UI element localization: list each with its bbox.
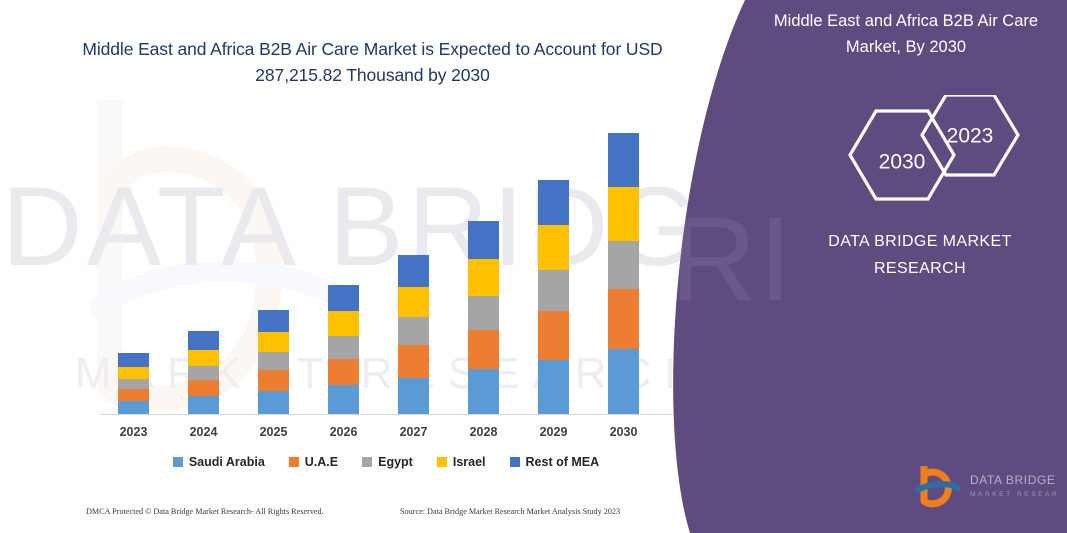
bar-segment-saudi-arabia [258, 391, 289, 414]
legend-label: Israel [453, 455, 486, 469]
hexagon-2030-label: 2030 [879, 151, 926, 174]
legend-label: Saudi Arabia [189, 455, 265, 469]
bar-segment-egypt [328, 336, 359, 358]
bar-segment-rest-of-mea [258, 310, 289, 332]
svg-text:DATA BRIDGE: DATA BRIDGE [970, 473, 1056, 487]
x-tick-2029: 2029 [519, 425, 589, 439]
bar-segment-egypt [258, 352, 289, 370]
bar-segment-egypt [398, 317, 429, 345]
bar-column-2028 [468, 221, 499, 414]
infographic-root: DATA BRIDGE MARKET RESEARCH Middle East … [0, 0, 1067, 533]
panel-title: Middle East and Africa B2B Air Care Mark… [750, 8, 1062, 60]
footer-source-text: Source: Data Bridge Market Research Mark… [400, 507, 620, 516]
bar-segment-u-a-e [398, 345, 429, 378]
bar-column-2025 [258, 310, 289, 414]
legend-swatch-icon [362, 457, 372, 467]
bar-segment-rest-of-mea [398, 255, 429, 287]
bar-segment-saudi-arabia [608, 349, 639, 415]
bar-segment-egypt [188, 366, 219, 380]
bar-segment-egypt [608, 241, 639, 289]
data-bridge-logo: DATA BRIDGE MARKET RESEARCH [908, 462, 1058, 508]
bar-segment-u-a-e [608, 289, 639, 348]
bar-segment-saudi-arabia [118, 401, 149, 414]
bar-segment-rest-of-mea [118, 353, 149, 368]
bar-column-2029 [538, 180, 569, 414]
bar-segment-saudi-arabia [188, 396, 219, 414]
bar-segment-u-a-e [328, 359, 359, 385]
brand-line-2: RESEARCH [790, 255, 1050, 282]
brand-name: DATA BRIDGE MARKET RESEARCH [790, 228, 1050, 282]
x-tick-2028: 2028 [449, 425, 519, 439]
bar-segment-u-a-e [468, 330, 499, 370]
legend-swatch-icon [510, 457, 520, 467]
bar-column-2030 [608, 133, 639, 414]
x-tick-2025: 2025 [239, 425, 309, 439]
chart-legend: Saudi ArabiaU.A.EEgyptIsraelRest of MEA [100, 455, 672, 469]
x-tick-2024: 2024 [169, 425, 239, 439]
bar-segment-israel [538, 225, 569, 270]
bar-segment-israel [188, 350, 219, 366]
bar-column-2023 [118, 353, 149, 414]
bar-segment-saudi-arabia [398, 378, 429, 414]
bar-segment-egypt [538, 270, 569, 311]
x-tick-2026: 2026 [309, 425, 379, 439]
bar-segment-rest-of-mea [538, 180, 569, 226]
legend-label: U.A.E [305, 455, 338, 469]
bar-segment-egypt [468, 296, 499, 330]
bar-segment-israel [468, 259, 499, 296]
footer-dmca-text: DMCA Protected © Data Bridge Market Rese… [86, 507, 324, 516]
legend-label: Rest of MEA [526, 455, 600, 469]
svg-text:MARKET RESEARCH: MARKET RESEARCH [970, 491, 1058, 498]
bar-segment-israel [258, 332, 289, 352]
bar-segment-israel [398, 287, 429, 317]
brand-panel: RI Middle East and Africa B2B Air Care M… [640, 0, 1067, 533]
bar-segment-rest-of-mea [468, 221, 499, 259]
x-tick-2027: 2027 [379, 425, 449, 439]
bar-segment-u-a-e [538, 311, 569, 360]
legend-item-u-a-e[interactable]: U.A.E [289, 455, 338, 469]
bar-segment-saudi-arabia [328, 385, 359, 414]
legend-swatch-icon [289, 457, 299, 467]
x-axis-line [100, 414, 672, 415]
legend-label: Egypt [378, 455, 413, 469]
bar-column-2027 [398, 255, 429, 414]
bar-segment-u-a-e [118, 389, 149, 401]
bar-segment-egypt [118, 379, 149, 389]
bar-column-2024 [188, 331, 219, 414]
hexagon-year-badges: 2030 2023 [810, 95, 1040, 205]
bar-segment-rest-of-mea [188, 331, 219, 350]
x-tick-2023: 2023 [99, 425, 169, 439]
bar-segment-rest-of-mea [608, 133, 639, 187]
legend-item-saudi-arabia[interactable]: Saudi Arabia [173, 455, 265, 469]
brand-line-1: DATA BRIDGE MARKET [790, 228, 1050, 255]
legend-item-egypt[interactable]: Egypt [362, 455, 413, 469]
bar-segment-israel [118, 367, 149, 378]
legend-swatch-icon [437, 457, 447, 467]
bar-segment-u-a-e [258, 370, 289, 391]
legend-swatch-icon [173, 457, 183, 467]
legend-item-rest-of-mea[interactable]: Rest of MEA [510, 455, 600, 469]
bar-segment-saudi-arabia [538, 360, 569, 414]
bar-segment-u-a-e [188, 380, 219, 396]
brand-panel-content: Middle East and Africa B2B Air Care Mark… [640, 0, 1067, 533]
bar-segment-israel [328, 311, 359, 336]
bar-segment-rest-of-mea [328, 285, 359, 312]
hexagon-2023-label: 2023 [947, 125, 994, 148]
legend-item-israel[interactable]: Israel [437, 455, 486, 469]
bar-column-2026 [328, 285, 359, 414]
bar-segment-israel [608, 187, 639, 240]
bar-segment-saudi-arabia [468, 369, 499, 414]
